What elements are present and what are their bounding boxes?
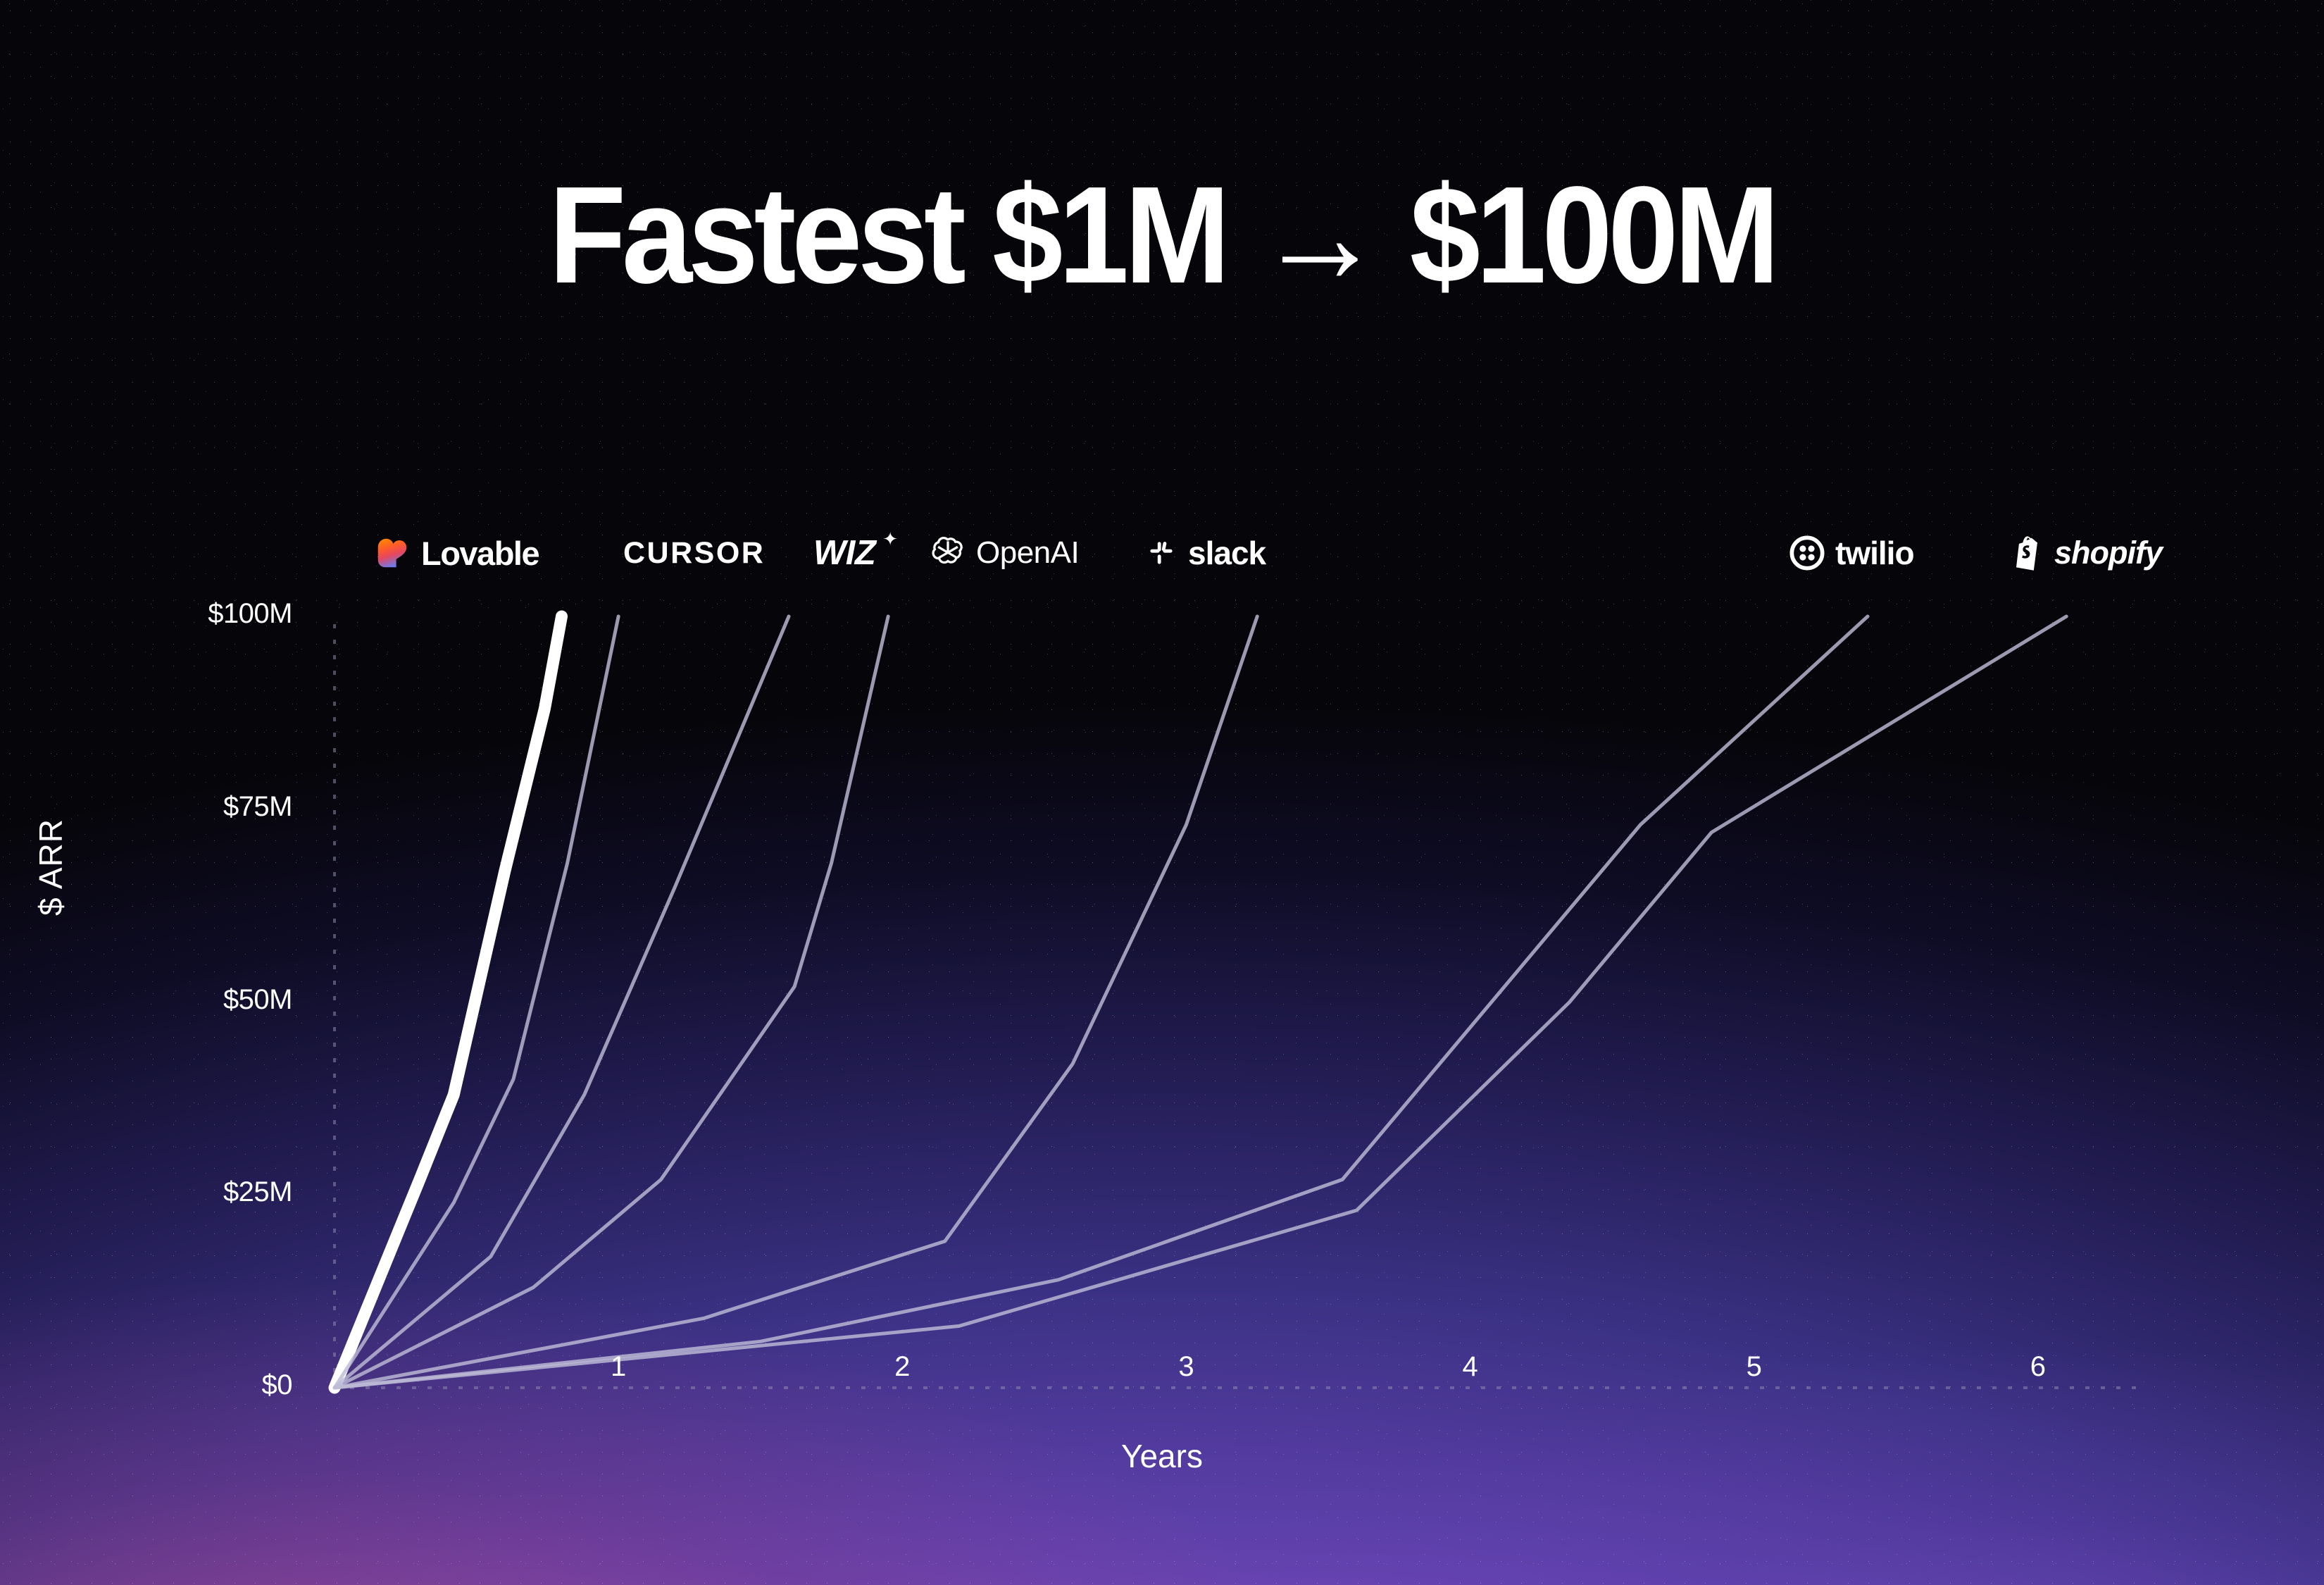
line-chart <box>0 0 2324 1585</box>
y-tick-label: $100M <box>123 598 292 630</box>
series-line-openai <box>335 616 888 1388</box>
y-tick-label: $25M <box>123 1176 292 1208</box>
y-axis-title: $ ARR <box>32 819 70 916</box>
chart-gridlines <box>335 616 2137 1388</box>
x-tick-label: 4 <box>1428 1351 1513 1383</box>
y-tick-label: $0 <box>123 1369 292 1401</box>
series-line-lovable <box>335 616 562 1388</box>
series-line-wiz <box>335 616 789 1388</box>
x-tick-label: 6 <box>1996 1351 2080 1383</box>
x-tick-label: 3 <box>1144 1351 1228 1383</box>
x-tick-label: 5 <box>1712 1351 1797 1383</box>
x-tick-label: 2 <box>860 1351 944 1383</box>
x-tick-label: 1 <box>576 1351 661 1383</box>
chart-series-lines <box>335 616 2066 1388</box>
y-tick-label: $50M <box>123 984 292 1016</box>
y-tick-label: $75M <box>123 791 292 823</box>
x-axis-title: Years <box>0 1437 2324 1475</box>
